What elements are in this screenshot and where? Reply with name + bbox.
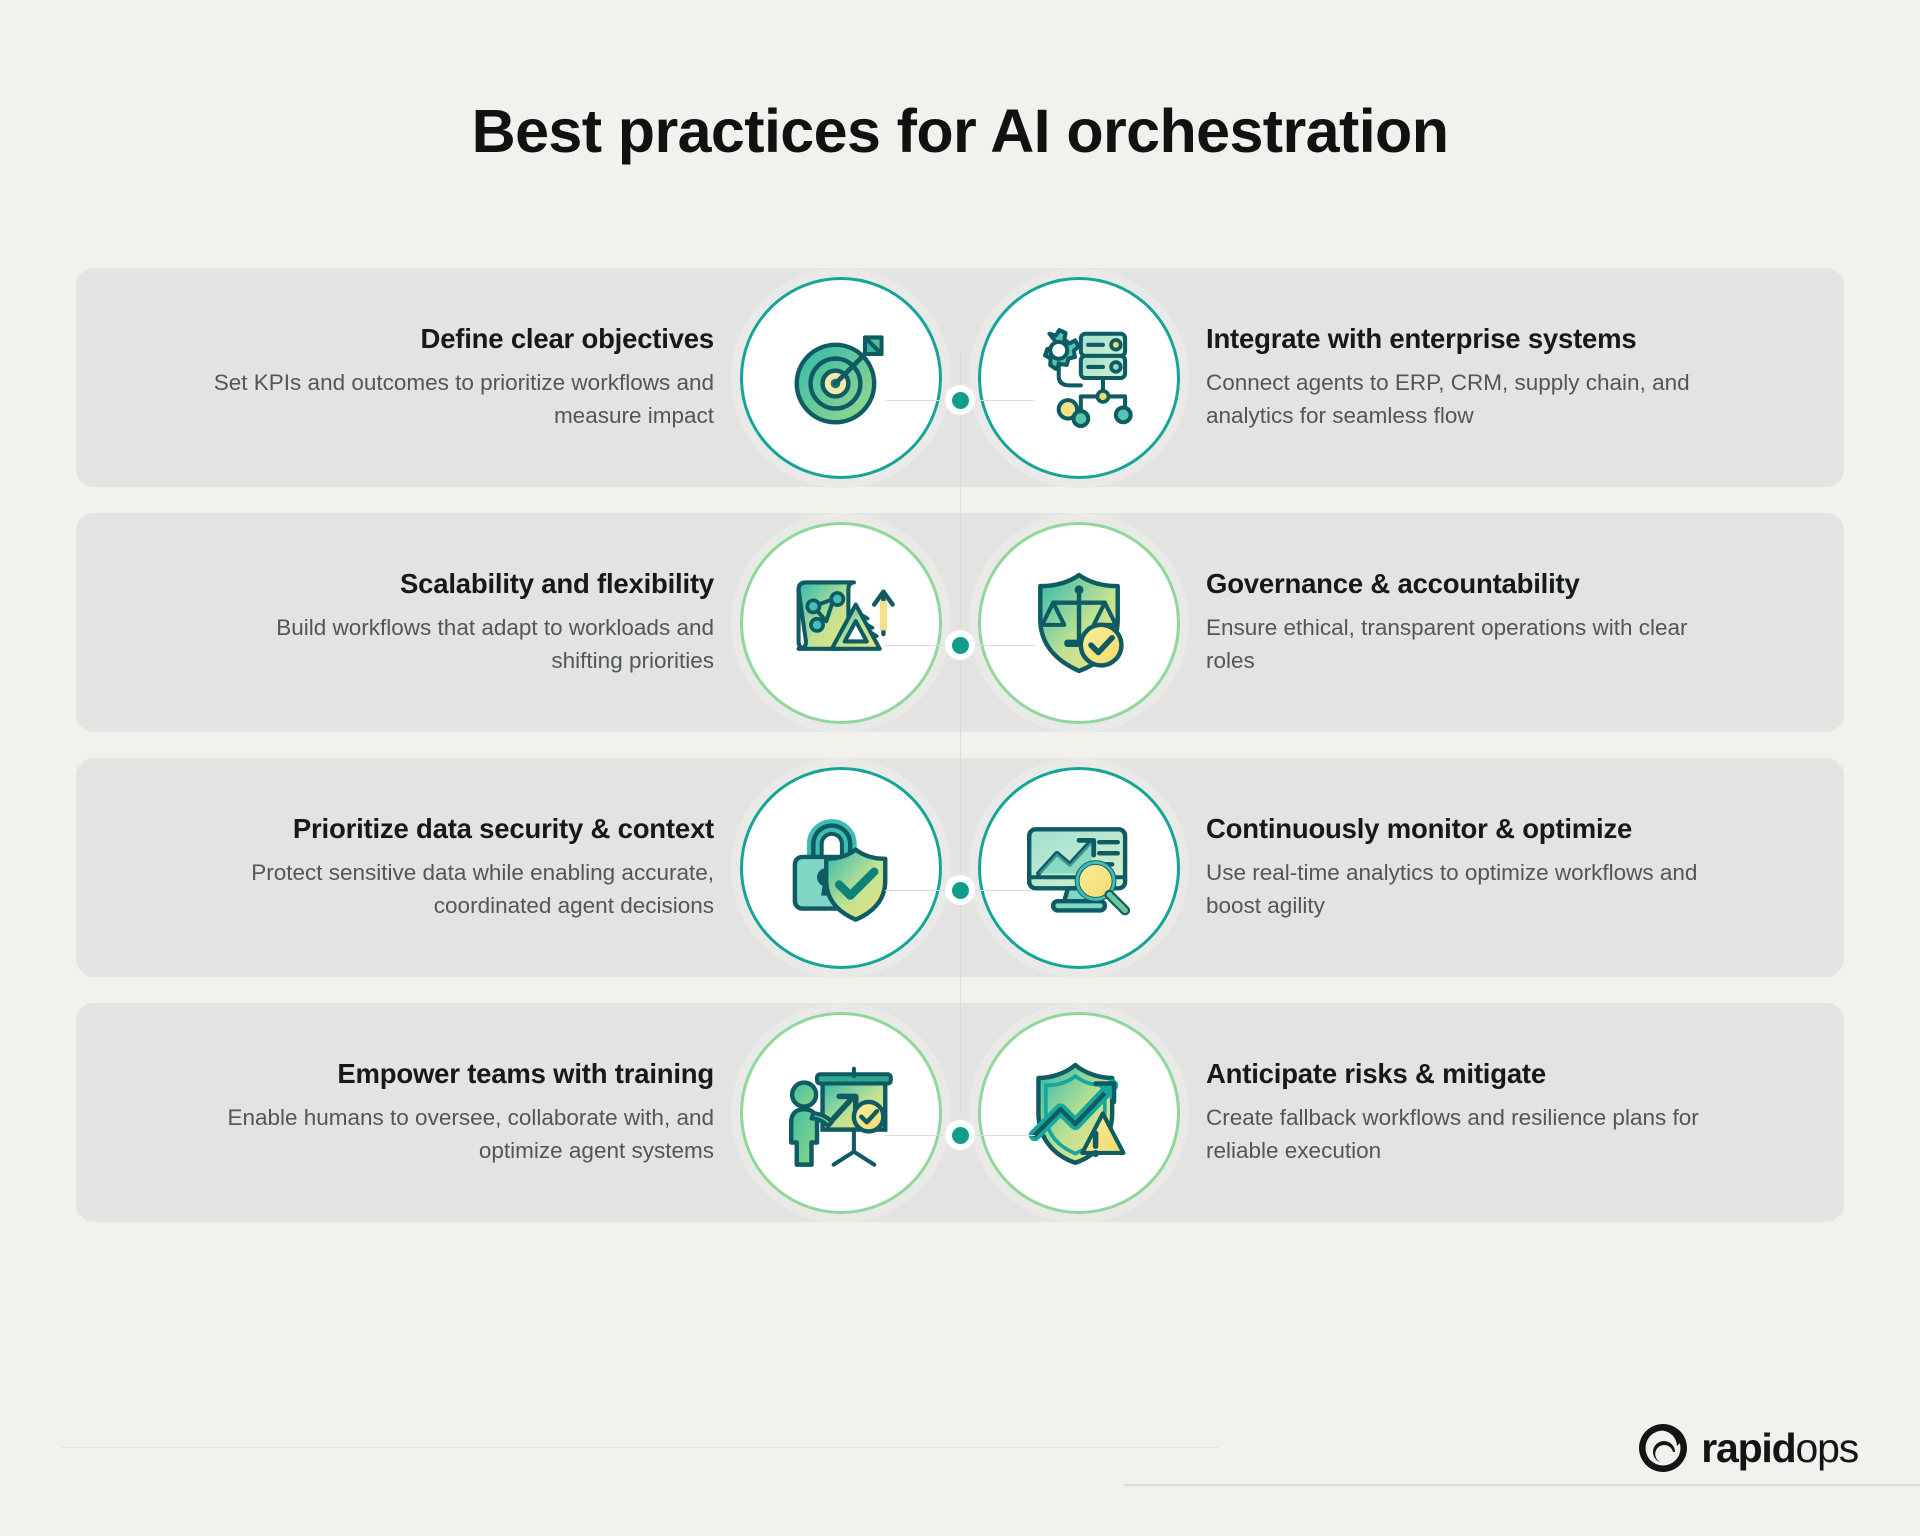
card-description: Build workflows that adapt to workloads … (202, 612, 714, 677)
card-title: Define clear objectives (202, 323, 714, 355)
card-description: Enable humans to oversee, collaborate wi… (202, 1102, 714, 1167)
card-icon-medallion (740, 1012, 942, 1214)
practice-card-right[interactable]: Anticipate risks & mitigate Create fallb… (960, 1003, 1844, 1222)
card-title: Integrate with enterprise systems (1206, 323, 1718, 355)
card-icon-medallion (740, 767, 942, 969)
shield-trend-warning-icon (1020, 1054, 1138, 1172)
padlock-shield-check-icon (782, 809, 900, 927)
card-icon-medallion (978, 277, 1180, 479)
timeline-node (945, 630, 975, 660)
card-title: Continuously monitor & optimize (1206, 813, 1718, 845)
target-arrow-icon (782, 319, 900, 437)
practice-card-right[interactable]: Integrate with enterprise systems Connec… (960, 268, 1844, 487)
card-icon-medallion (978, 767, 1180, 969)
card-description: Ensure ethical, transparent operations w… (1206, 612, 1718, 677)
card-description: Use real-time analytics to optimize work… (1206, 857, 1718, 922)
logo-bold-text: rapid (1701, 1425, 1795, 1471)
card-icon-medallion (740, 522, 942, 724)
timeline-node (945, 875, 975, 905)
rapidops-spiral-icon (1637, 1422, 1689, 1474)
practice-card-left[interactable]: Scalability and flexibility Build workfl… (76, 513, 960, 732)
footer-divider-right (1124, 1484, 1920, 1486)
timeline-node (945, 385, 975, 415)
page-title: Best practices for AI orchestration (0, 96, 1920, 166)
card-description: Create fallback workflows and resilience… (1206, 1102, 1718, 1167)
card-title: Prioritize data security & context (202, 813, 714, 845)
card-title: Empower teams with training (202, 1058, 714, 1090)
rapidops-wordmark: rapidops (1701, 1428, 1858, 1469)
card-description: Connect agents to ERP, CRM, supply chain… (1206, 367, 1718, 432)
card-icon-medallion (978, 1012, 1180, 1214)
practice-card-left[interactable]: Empower teams with training Enable human… (76, 1003, 960, 1222)
card-description: Protect sensitive data while enabling ac… (202, 857, 714, 922)
practice-card-right[interactable]: Continuously monitor & optimize Use real… (960, 758, 1844, 977)
card-icon-medallion (978, 522, 1180, 724)
card-description: Set KPIs and outcomes to prioritize work… (202, 367, 714, 432)
logo-light-text: ops (1795, 1425, 1858, 1471)
card-icon-medallion (740, 277, 942, 479)
infographic-page: Best practices for AI orchestration (0, 0, 1920, 1536)
card-title: Anticipate risks & mitigate (1206, 1058, 1718, 1090)
timeline-spine (960, 352, 961, 1114)
practice-card-right[interactable]: Governance & accountability Ensure ethic… (960, 513, 1844, 732)
shield-scales-check-icon (1020, 564, 1138, 682)
card-title: Governance & accountability (1206, 568, 1718, 600)
blueprint-ruler-arrow-icon (782, 564, 900, 682)
practice-card-left[interactable]: Prioritize data security & context Prote… (76, 758, 960, 977)
presenter-board-check-icon (782, 1054, 900, 1172)
rapidops-logo: rapidops (1637, 1422, 1858, 1474)
gear-server-network-icon (1020, 319, 1138, 437)
monitor-chart-magnifier-icon (1020, 809, 1138, 927)
footer-divider-left (60, 1447, 1220, 1448)
timeline-node (945, 1120, 975, 1150)
practice-card-left[interactable]: Define clear objectives Set KPIs and out… (76, 268, 960, 487)
card-title: Scalability and flexibility (202, 568, 714, 600)
